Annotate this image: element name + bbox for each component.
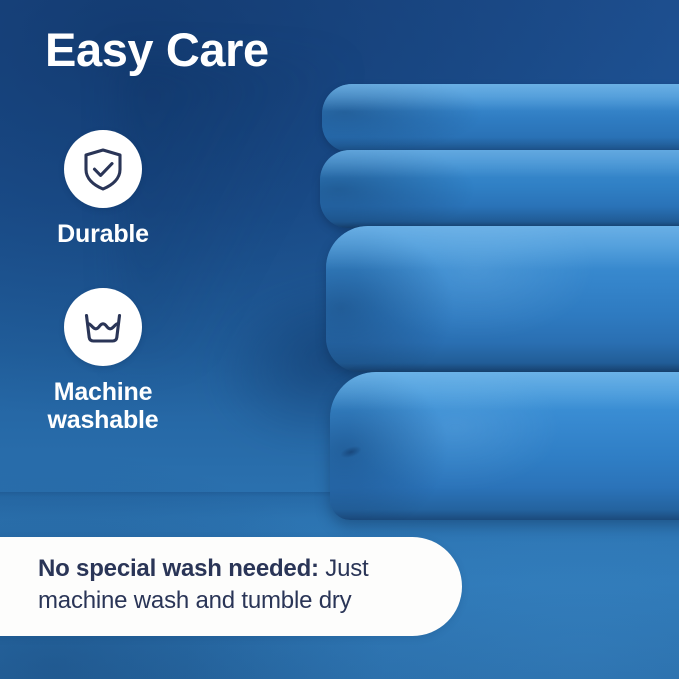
feature-durable-label: Durable [18,220,188,248]
feature-durable: Durable [18,130,188,248]
sheet-fold-1 [322,84,679,152]
folded-sheet-stack [300,84,679,520]
feature-machine-washable: Machine washable [18,288,188,434]
caption-lead: No special wash needed: [38,555,319,582]
wash-basin-icon [78,302,128,352]
feature-machine-washable-badge [64,288,142,366]
feature-machine-washable-label: Machine washable [18,378,188,434]
caption-banner: No special wash needed: Just machine was… [0,537,462,636]
feature-label-line-2: washable [18,406,188,434]
sheet-fold-4 [330,372,679,520]
marketing-image: Easy Care Durable Machine washable [0,0,679,679]
sheet-fold-3 [326,226,679,372]
caption-text: No special wash needed: Just machine was… [38,553,418,616]
feature-durable-badge [64,130,142,208]
sheet-fold-2 [320,150,679,228]
shield-check-icon [78,144,128,194]
page-title: Easy Care [45,25,269,74]
feature-label-line-1: Machine [18,378,188,406]
